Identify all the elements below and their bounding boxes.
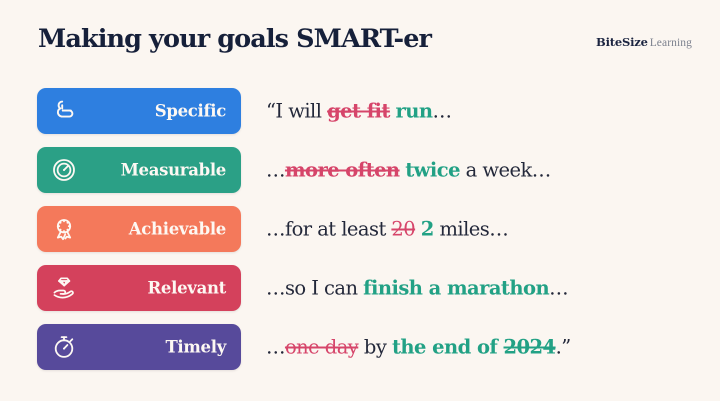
sentence-segment-new-strike: 2024: [504, 336, 556, 359]
goal-sentence: …more often twice a week…: [266, 159, 551, 182]
sentence-segment-plain: …: [266, 159, 285, 182]
brand-logo: BiteSizeLearning: [596, 35, 692, 49]
sentence-segment-plain: …: [549, 277, 568, 300]
goal-sentence: …so I can finish a marathon…: [266, 277, 568, 300]
sentence-segment-quote: .”: [556, 336, 571, 359]
goal-sentence: …one day by the end of 2024.”: [266, 336, 571, 359]
pill-achievable[interactable]: Achievable: [37, 206, 241, 252]
smart-row-relevant: Relevant…so I can finish a marathon…: [0, 265, 720, 311]
pill-measurable[interactable]: Measurable: [37, 147, 241, 193]
stopwatch-icon: [50, 333, 78, 361]
sentence-segment-plain: a week…: [460, 159, 551, 182]
sentence-segment-strike-thin: 20: [391, 218, 415, 241]
sentence-segment-strike-thin: one day: [285, 336, 358, 359]
smart-row-measurable: Measurable…more often twice a week…: [0, 147, 720, 193]
pill-label: Measurable: [121, 161, 226, 180]
sentence-segment-strike: get fit: [327, 100, 390, 123]
sentence-segment-plain: miles…: [434, 218, 508, 241]
pill-timely[interactable]: Timely: [37, 324, 241, 370]
sentence-segment-plain: by: [358, 336, 392, 359]
goal-sentence: “I will get fit run…: [266, 100, 451, 123]
sentence-segment-plain: “I will: [266, 100, 327, 123]
sentence-segment-plain: …: [266, 336, 285, 359]
hand-holding-diamond-icon: [50, 274, 78, 302]
sentence-segment-new: the end of: [392, 336, 504, 359]
pill-label: Achievable: [129, 220, 226, 239]
sentence-segment-plain: …so I can: [266, 277, 363, 300]
gauge-icon: [50, 156, 78, 184]
smart-row-specific: Specific“I will get fit run…: [0, 88, 720, 134]
sentence-segment-strike: more often: [285, 159, 400, 182]
pill-specific[interactable]: Specific: [37, 88, 241, 134]
sentence-segment-new: twice: [405, 159, 460, 182]
sentence-segment-new: run: [396, 100, 433, 123]
sentence-segment-new: finish a marathon: [363, 277, 549, 300]
award-ribbon-icon: [50, 215, 78, 243]
brand-logo-bold: BiteSize: [596, 35, 648, 49]
pill-label: Relevant: [148, 279, 226, 298]
pill-label: Timely: [165, 338, 226, 357]
pill-relevant[interactable]: Relevant: [37, 265, 241, 311]
smart-goals-slide: Making your goals SMART-er BiteSizeLearn…: [0, 0, 720, 401]
smart-row-achievable: Achievable…for at least 20 2 miles…: [0, 206, 720, 252]
sentence-segment-plain: …for at least: [266, 218, 391, 241]
pointing-hand-icon: [50, 97, 78, 125]
sentence-segment-plain: …: [433, 100, 452, 123]
sentence-segment-new: 2: [421, 218, 434, 241]
pill-label: Specific: [155, 102, 226, 121]
page-title: Making your goals SMART-er: [38, 24, 431, 54]
smart-rows: Specific“I will get fit run…Measurable…m…: [0, 88, 720, 383]
brand-logo-light: Learning: [650, 37, 692, 49]
goal-sentence: …for at least 20 2 miles…: [266, 218, 508, 241]
smart-row-timely: Timely…one day by the end of 2024.”: [0, 324, 720, 370]
slide-header: Making your goals SMART-er BiteSizeLearn…: [0, 0, 720, 72]
